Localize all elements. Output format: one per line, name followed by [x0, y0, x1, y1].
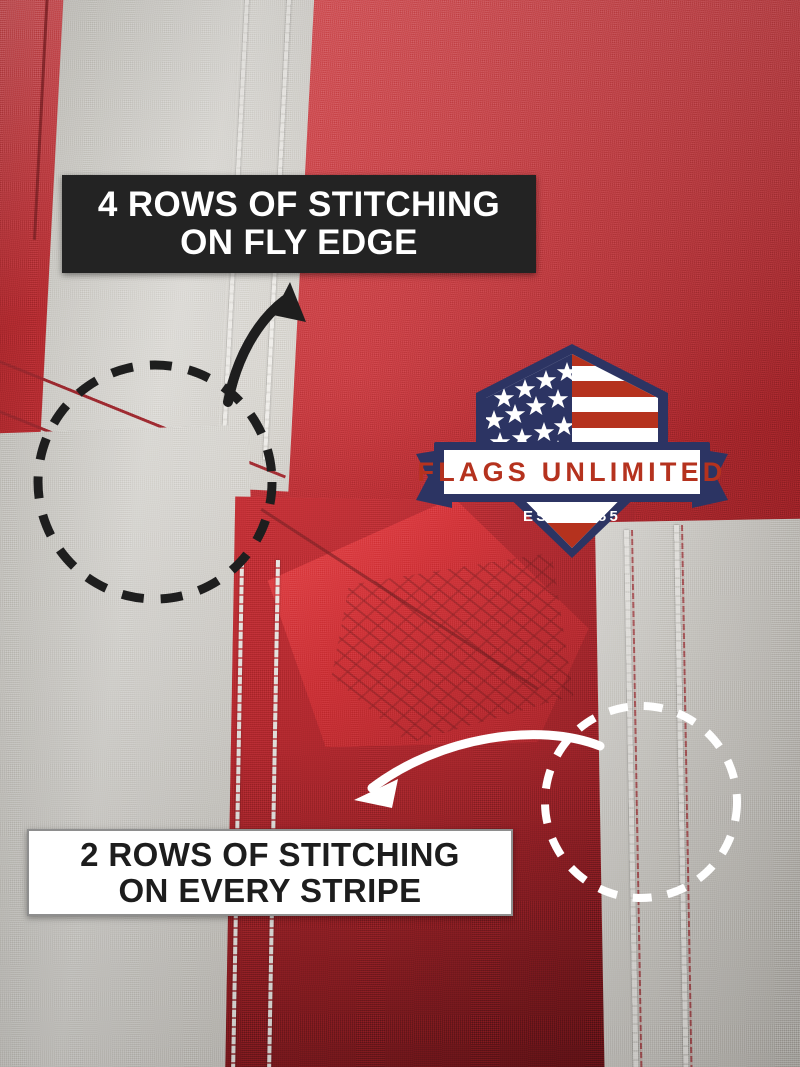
- callout-every-stripe-line2: ON EVERY STRIPE: [118, 873, 421, 909]
- callout-every-stripe: 2 ROWS OF STITCHING ON EVERY STRIPE: [27, 829, 513, 916]
- callout-fly-edge-line2: ON FLY EDGE: [180, 224, 418, 262]
- callout-every-stripe-line1: 2 ROWS OF STITCHING: [80, 837, 460, 873]
- logo-established-text: EST. 1985: [523, 508, 621, 525]
- flag-stitching-image: FLAGS UNLIMITED EST. 1985 4 ROWS OF STIT…: [0, 0, 800, 1067]
- callout-fly-edge-line1: 4 ROWS OF STITCHING: [98, 186, 500, 224]
- callout-fly-edge: 4 ROWS OF STITCHING ON FLY EDGE: [62, 175, 536, 273]
- logo-banner-text: FLAGS UNLIMITED: [418, 457, 727, 487]
- flags-unlimited-logo: FLAGS UNLIMITED EST. 1985: [412, 336, 732, 561]
